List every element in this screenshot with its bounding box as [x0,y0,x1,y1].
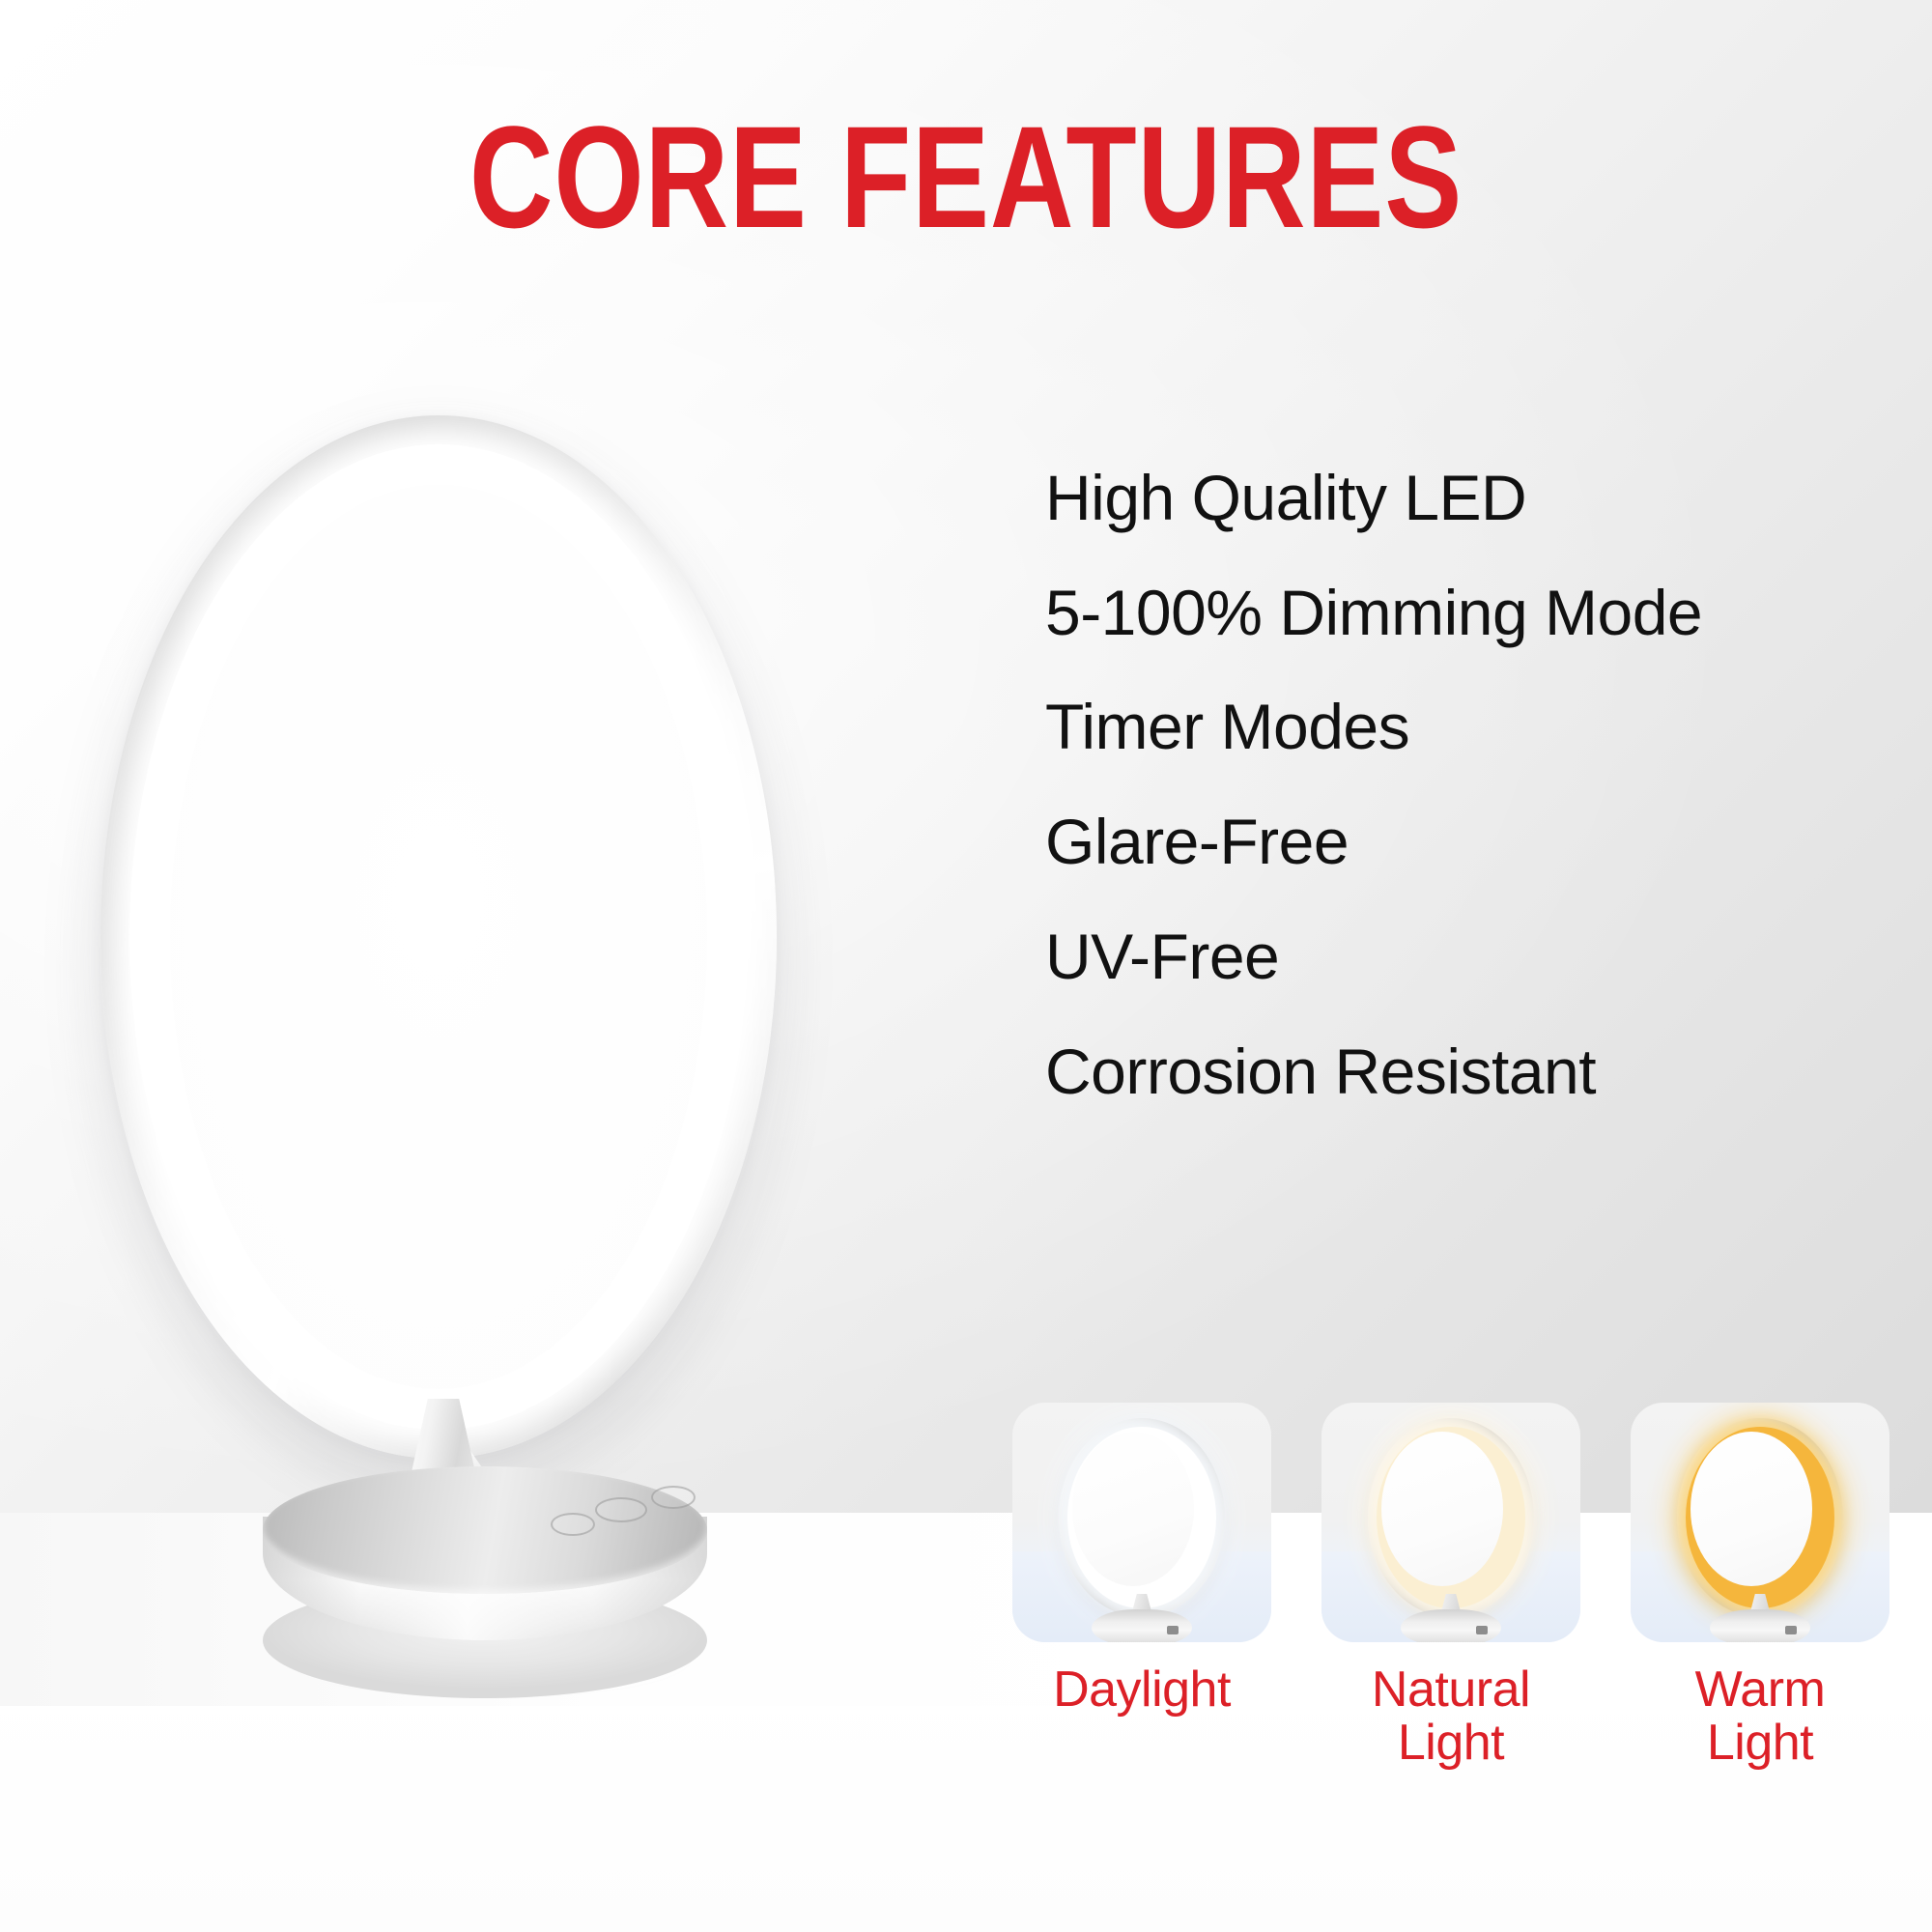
mini-lamp-inner-area [1381,1432,1503,1586]
lamp-base-top [263,1466,707,1594]
power-touch-icon[interactable] [595,1497,647,1522]
mini-lamp-port-icon [1785,1626,1797,1634]
mini-lamp-ring-frame [1677,1418,1843,1617]
feature-item-uv-free: UV-Free [1045,923,1847,991]
lamp-ring-inner-area [170,485,707,1389]
light-mode-gallery: Daylight Natural Light [1012,1403,1891,1770]
light-mode-label-line2: Light [1372,1717,1530,1770]
light-mode-label: Warm Light [1695,1663,1826,1770]
feature-list: High Quality LED 5-100% Dimming Mode Tim… [1045,464,1847,1153]
light-mode-daylight[interactable]: Daylight [1012,1403,1271,1770]
brightness-down-touch-icon[interactable] [551,1513,595,1536]
light-mode-label-line1: Natural [1372,1663,1530,1717]
light-mode-warm-light[interactable]: Warm Light [1631,1403,1889,1770]
page-title: CORE FEATURES [193,104,1739,249]
mini-lamp-inner-area [1690,1432,1812,1586]
color-mode-touch-icon[interactable] [651,1486,696,1509]
mini-lamp-inner-area [1072,1432,1194,1586]
mini-lamp-base [1401,1609,1501,1642]
light-mode-label-line1: Daylight [1053,1663,1231,1717]
mini-lamp-port-icon [1167,1626,1179,1634]
light-mode-card [1321,1403,1580,1642]
product-lamp [93,415,788,1604]
light-mode-label: Daylight [1053,1663,1231,1717]
light-mode-label-line1: Warm [1695,1663,1826,1717]
light-mode-label: Natural Light [1372,1663,1530,1770]
mini-lamp-base [1710,1609,1810,1642]
infographic-canvas: CORE FEATURES High Quality LED 5-100% Di… [0,0,1932,1932]
feature-item-high-quality-led: High Quality LED [1045,464,1847,532]
light-mode-card [1631,1403,1889,1642]
light-mode-natural-light[interactable]: Natural Light [1321,1403,1580,1770]
mini-lamp-base [1092,1609,1192,1642]
feature-item-timer-modes: Timer Modes [1045,693,1847,761]
mini-lamp-ring-frame [1059,1418,1225,1617]
light-mode-label-line2: Light [1695,1717,1826,1770]
feature-item-corrosion-resistant: Corrosion Resistant [1045,1037,1847,1106]
light-mode-card [1012,1403,1271,1642]
feature-item-glare-free: Glare-Free [1045,808,1847,876]
feature-item-dimming-mode: 5-100% Dimming Mode [1045,579,1847,647]
mini-lamp-ring-frame [1368,1418,1534,1617]
mini-lamp-port-icon [1476,1626,1488,1634]
